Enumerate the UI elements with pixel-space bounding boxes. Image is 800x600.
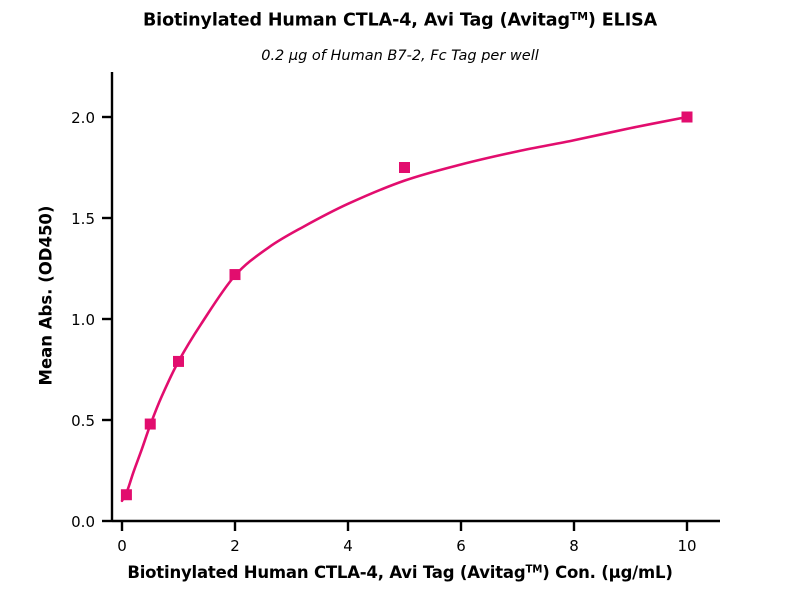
x-tick-label-3: 6 — [456, 537, 466, 555]
y-tick-label-0: 0.0 — [71, 513, 95, 531]
elisa-chart-figure: Biotinylated Human CTLA-4, Avi Tag (Avit… — [0, 0, 800, 600]
y-tick-labels: 0.0 0.5 1.0 1.5 2.0 — [71, 109, 95, 531]
x-tick-label-5: 10 — [677, 537, 696, 555]
plot-area: 0.0 0.5 1.0 1.5 2.0 0 2 4 6 8 10 — [0, 0, 800, 600]
data-point — [145, 419, 156, 430]
x-tick-marks — [122, 521, 687, 531]
x-tick-label-4: 8 — [569, 537, 579, 555]
data-point — [682, 112, 693, 123]
x-tick-labels: 0 2 4 6 8 10 — [117, 537, 696, 555]
y-tick-marks — [102, 117, 112, 521]
x-tick-label-0: 0 — [117, 537, 127, 555]
x-tick-label-1: 2 — [230, 537, 240, 555]
data-point-markers — [121, 112, 693, 501]
data-point — [399, 162, 410, 173]
y-tick-label-4: 2.0 — [71, 109, 95, 127]
x-tick-label-2: 4 — [343, 537, 353, 555]
data-point — [230, 269, 241, 280]
data-point — [121, 489, 132, 500]
y-tick-label-2: 1.0 — [71, 311, 95, 329]
data-point — [173, 356, 184, 367]
y-tick-label-1: 0.5 — [71, 412, 95, 430]
fit-curve — [122, 117, 687, 501]
y-tick-label-3: 1.5 — [71, 210, 95, 228]
